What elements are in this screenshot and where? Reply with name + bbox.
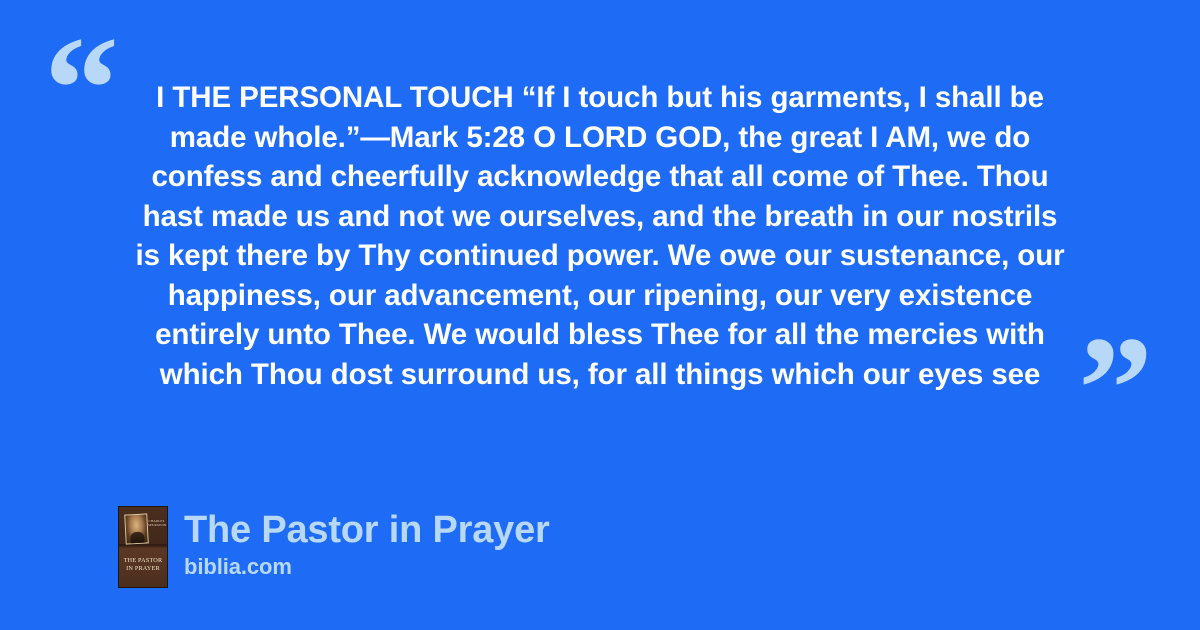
author-portrait-image [124,513,149,544]
quote-block: I THE PERSONAL TOUCH “If I touch but his… [100,78,1100,394]
source-title: The Pastor in Prayer [184,508,550,552]
close-quote-icon: ” [1078,314,1153,464]
source-site: biblia.com [184,554,550,580]
quote-poster: “ I THE PERSONAL TOUCH “If I touch but h… [0,0,1200,630]
quote-text: I THE PERSONAL TOUCH “If I touch but his… [100,78,1100,394]
book-cover-thumbnail: Charles Spurgeon The Pastor in Prayer [118,506,168,588]
source-footer: Charles Spurgeon The Pastor in Prayer Th… [118,506,550,588]
source-info: The Pastor in Prayer biblia.com [184,506,550,580]
book-cover-title-label: The Pastor in Prayer [119,557,167,573]
book-cover-author-label: Charles Spurgeon [148,519,165,528]
